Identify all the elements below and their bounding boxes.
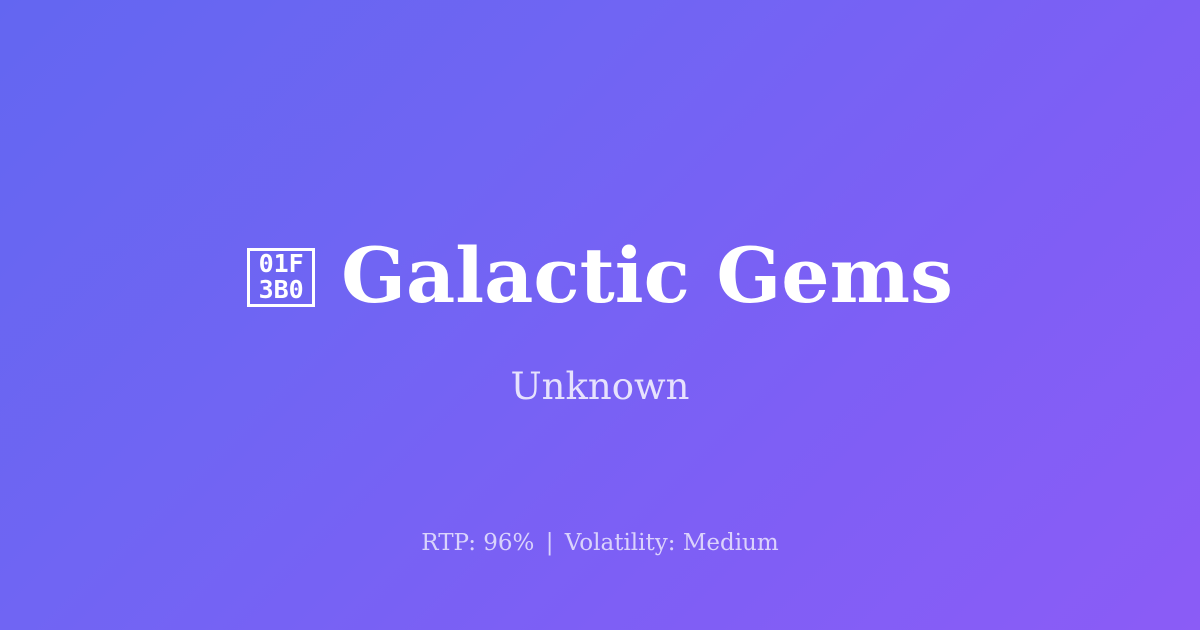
title-row: 01F 3B0 Galactic Gems	[0, 231, 1200, 321]
slot-machine-icon: 01F 3B0	[247, 248, 315, 307]
meta-separator: |	[542, 530, 558, 556]
tofu-codepoint-line-1: 01F	[259, 251, 304, 277]
rtp-label: RTP:	[421, 530, 476, 556]
tofu-codepoint-line-2: 3B0	[259, 277, 304, 303]
rtp-value: 96%	[483, 530, 534, 556]
volatility-label: Volatility:	[565, 530, 676, 556]
game-og-card: 01F 3B0 Galactic Gems Unknown RTP: 96% |…	[0, 0, 1200, 630]
volatility-value: Medium	[683, 530, 779, 556]
page-title: Galactic Gems	[341, 232, 953, 320]
game-meta: RTP: 96% | Volatility: Medium	[0, 528, 1200, 558]
provider-name: Unknown	[0, 364, 1200, 410]
